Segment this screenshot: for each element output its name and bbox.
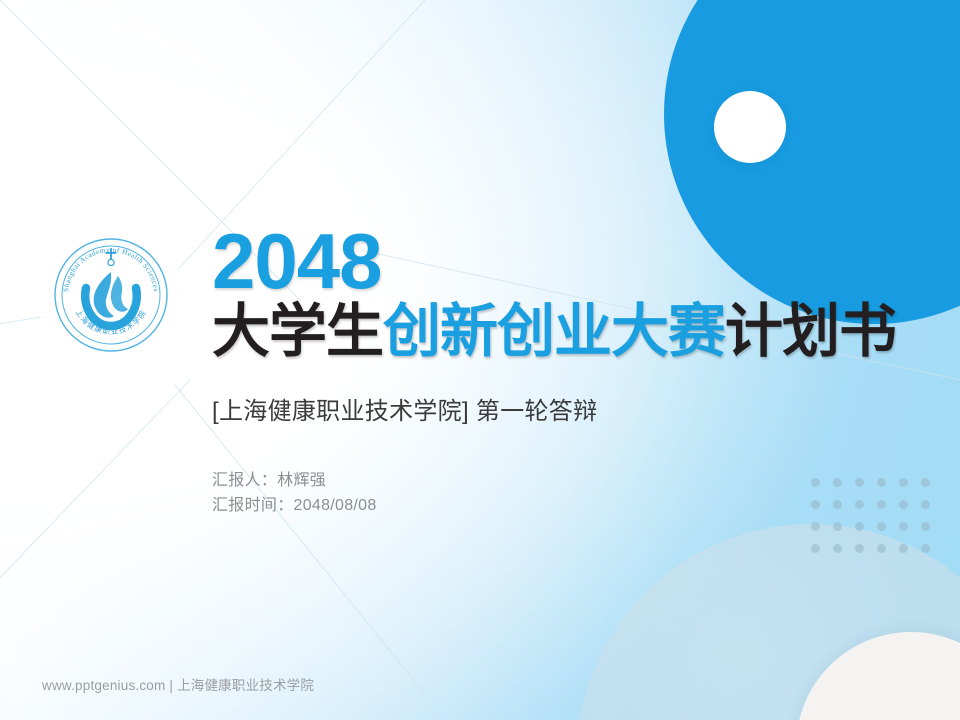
subtitle: [上海健康职业技术学院] 第一轮答辩: [212, 391, 912, 426]
logo-seal-icon: Shanghai Academy of Health Sciences 上海健康…: [52, 236, 170, 354]
date-line: 汇报时间：2048/08/08: [212, 493, 912, 518]
decorative-white-circle: [714, 91, 786, 163]
headline-part-2: 创新创业大赛: [383, 299, 725, 364]
headline-part-1: 大学生: [212, 299, 383, 364]
headline-part-3: 计划书: [725, 299, 896, 364]
page-title: 大学生创新创业大赛计划书: [212, 302, 912, 361]
university-logo: Shanghai Academy of Health Sciences 上海健康…: [38, 222, 184, 368]
title-slide: Shanghai Academy of Health Sciences 上海健康…: [0, 0, 960, 720]
presentation-meta: 汇报人：林辉强 汇报时间：2048/08/08: [212, 468, 912, 519]
footer-credit: www.pptgenius.com | 上海健康职业技术学院: [42, 674, 314, 694]
title-text-block: 2048 大学生创新创业大赛计划书 [上海健康职业技术学院] 第一轮答辩 汇报人…: [212, 226, 912, 518]
year-heading: 2048: [212, 226, 912, 298]
presenter-line: 汇报人：林辉强: [212, 468, 912, 493]
